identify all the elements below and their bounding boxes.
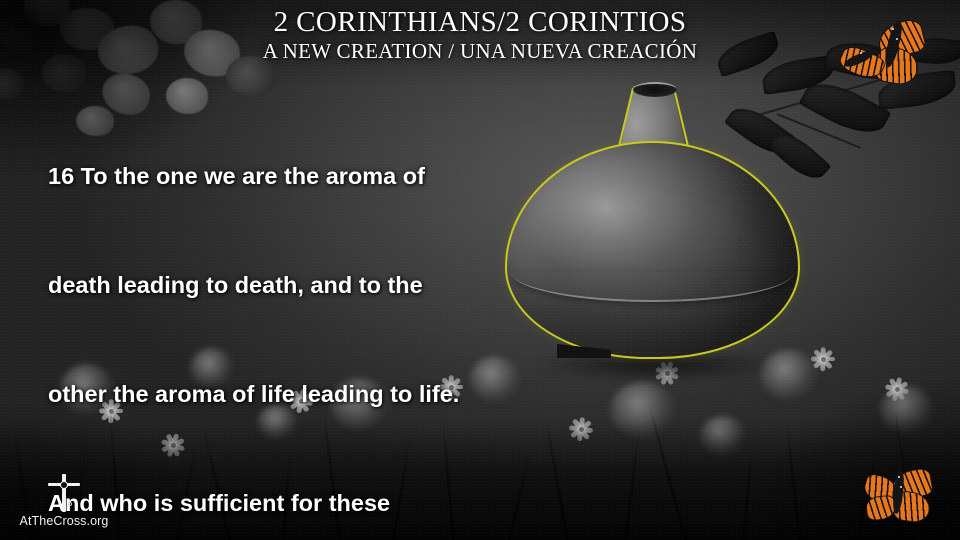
verse-line: 16 To the one we are the aroma of: [48, 158, 548, 194]
page-subtitle: A NEW CREATION / UNA NUEVA CREACIÓN: [0, 38, 960, 64]
scripture-verse-text: 16 To the one we are the aroma of death …: [48, 85, 548, 540]
verse-line: death leading to death, and to the: [48, 267, 548, 303]
verse-line: other the aroma of life leading to life.: [48, 376, 548, 412]
watermark-logo[interactable]: AtTheCross.org: [12, 472, 116, 528]
diffuser-body: [505, 141, 800, 359]
page-title: 2 CORINTHIANS/2 CORINTIOS: [0, 6, 960, 38]
cross-icon: [12, 472, 116, 514]
diffuser-mouth-opening: [633, 82, 677, 97]
slide-title-block: 2 CORINTHIANS/2 CORINTIOS A NEW CREATION…: [0, 6, 960, 64]
diffuser-texture: [507, 143, 798, 357]
verse-line: And who is sufficient for these: [48, 485, 548, 521]
aroma-diffuser-image: [505, 86, 815, 361]
scripture-slide: 2 CORINTHIANS/2 CORINTIOS A NEW CREATION…: [0, 0, 960, 540]
monarch-butterfly-bottom-right: [862, 466, 958, 530]
watermark-text: AtTheCross.org: [12, 514, 116, 528]
